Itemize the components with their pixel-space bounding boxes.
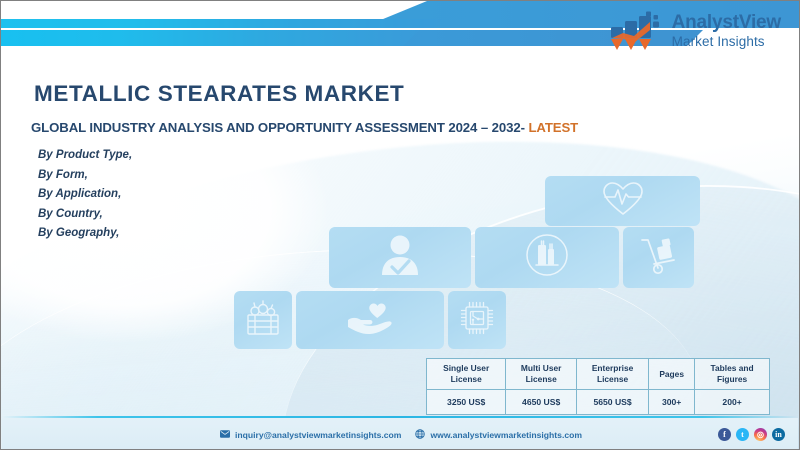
tile-care [296, 291, 444, 349]
hand-heart-icon [346, 298, 394, 343]
table-header-cell-multi-user: Multi UserLicense [506, 359, 577, 390]
lab-beakers-circle-icon [525, 233, 569, 282]
header-ribbon-thick [1, 30, 419, 46]
envelope-icon [220, 430, 230, 440]
social-links: f t ◎ in [718, 428, 785, 441]
table-header-cell-single-user: Single UserLicense [427, 359, 506, 390]
value-pages: 300+ [649, 390, 695, 415]
table-row: 3250 US$ 4650 US$ 5650 US$ 300+ 200+ [427, 390, 770, 415]
pricing-table: Single UserLicense Multi UserLicense Ent… [426, 358, 770, 415]
subtitle-latest-badge: LATEST [528, 120, 578, 135]
logo-tagline: Market Insights [672, 35, 781, 49]
table-header-row: Single UserLicense Multi UserLicense Ent… [427, 359, 770, 390]
footer-contact: inquiry@analystviewmarketinsights.com ww… [1, 429, 800, 441]
list-item: By Country, [38, 205, 132, 225]
footer-divider [2, 416, 798, 418]
list-item: By Product Type, [38, 146, 132, 166]
list-item: By Form, [38, 166, 132, 186]
person-check-icon [380, 234, 420, 281]
page-subtitle: GLOBAL INDUSTRY ANALYSIS AND OPPORTUNITY… [31, 120, 578, 135]
food-crate-icon [244, 299, 282, 342]
price-single-user: 3250 US$ [427, 390, 506, 415]
segmentation-list: By Product Type, By Form, By Application… [38, 146, 132, 244]
subtitle-main-text: GLOBAL INDUSTRY ANALYSIS AND OPPORTUNITY… [31, 120, 528, 135]
header-ribbon-thin [1, 19, 443, 28]
page-title: METALLIC STEARATES MARKET [34, 81, 404, 107]
globe-icon [415, 429, 425, 441]
table-header-cell-tables-figures: Tables andFigures [695, 359, 770, 390]
list-item: By Geography, [38, 224, 132, 244]
microchip-circuit-icon [458, 299, 496, 342]
tile-chemicals [475, 227, 619, 288]
tile-electronics [448, 291, 506, 349]
tile-healthcare [545, 176, 700, 226]
tile-food [234, 291, 292, 349]
value-tables-figures: 200+ [695, 390, 770, 415]
facebook-icon[interactable]: f [718, 428, 731, 441]
hand-truck-dolly-icon [638, 234, 680, 281]
table-header-cell-pages: Pages [649, 359, 695, 390]
tile-consumer [329, 227, 471, 288]
footer-website[interactable]: www.analystviewmarketinsights.com [430, 430, 582, 440]
heartbeat-pulse-icon [602, 181, 644, 222]
logo-company-name: AnalystView [672, 13, 781, 32]
linkedin-icon[interactable]: in [772, 428, 785, 441]
instagram-icon[interactable]: ◎ [754, 428, 767, 441]
price-enterprise: 5650 US$ [577, 390, 649, 415]
tile-logistics [623, 227, 694, 288]
price-multi-user: 4650 US$ [506, 390, 577, 415]
company-logo[interactable]: AnalystView Market Insights [610, 10, 781, 52]
twitter-icon[interactable]: t [736, 428, 749, 441]
bar-chart-growth-logo-icon [610, 10, 664, 52]
report-cover-page: AnalystView Market Insights METALLIC STE… [0, 0, 800, 450]
table-header-cell-enterprise: EnterpriseLicense [577, 359, 649, 390]
list-item: By Application, [38, 185, 132, 205]
footer-email[interactable]: inquiry@analystviewmarketinsights.com [235, 430, 401, 440]
